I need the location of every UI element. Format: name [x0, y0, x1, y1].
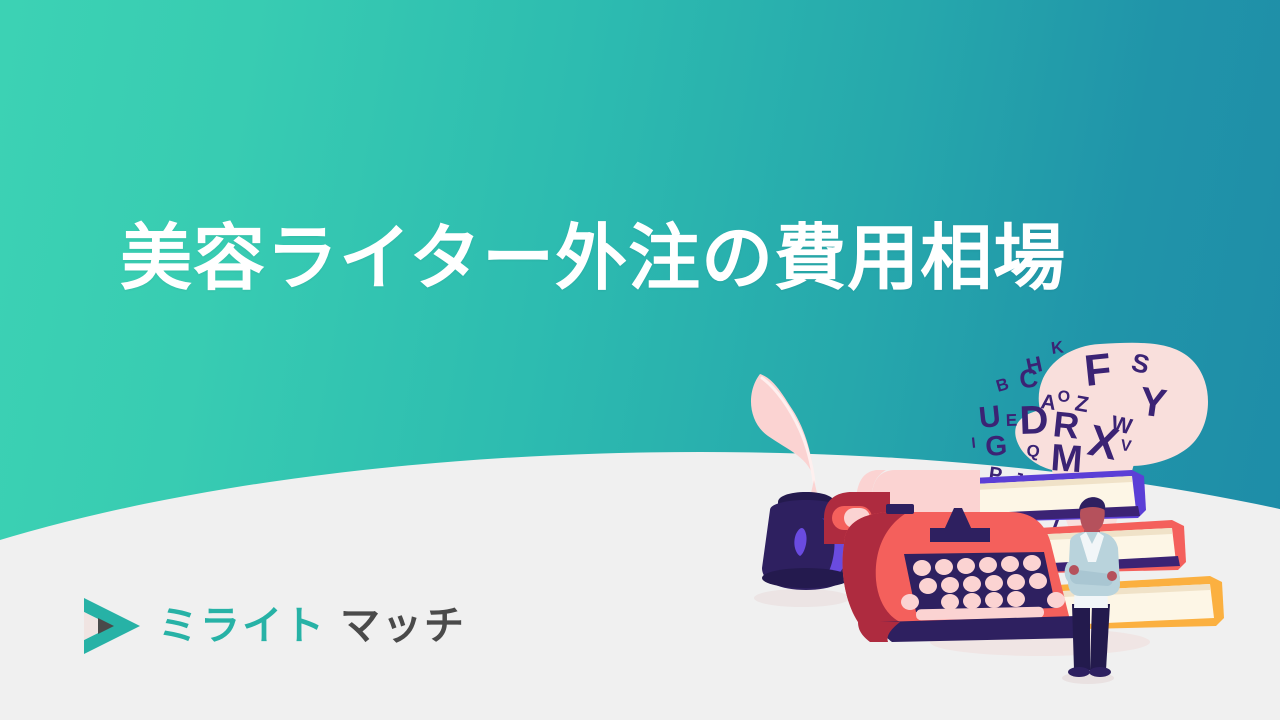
svg-text:B: B	[994, 374, 1011, 396]
typewriter-key-right	[1047, 592, 1065, 608]
svg-text:E: E	[1005, 411, 1017, 430]
typewriter-ribbon-slot	[886, 504, 914, 514]
person-leg-left	[1072, 604, 1090, 670]
svg-text:G: G	[984, 430, 1008, 462]
page-title: 美容ライター外注の費用相場	[120, 218, 1066, 301]
person-shoe-left	[1068, 667, 1090, 677]
svg-text:K: K	[1050, 337, 1066, 358]
svg-text:Q: Q	[1026, 441, 1041, 461]
person-leg-right	[1090, 604, 1110, 670]
svg-text:D: D	[1019, 398, 1049, 443]
person-hand-right	[1107, 571, 1117, 581]
person-hand-left	[1069, 565, 1079, 575]
ink-bottle-bottom	[762, 568, 850, 588]
svg-text:I: I	[971, 435, 977, 452]
typewriter-key-left	[901, 594, 919, 610]
writer-typewriter-books-illustration: K H F S B C A O Z Y U E D R X W V	[740, 330, 1240, 690]
svg-text:F: F	[1082, 344, 1114, 396]
quill-feather-icon	[751, 374, 820, 506]
brand-logo[interactable]: ミライト マッチ	[80, 596, 466, 656]
chevron-arrow-mark-icon	[80, 596, 144, 656]
logo-word-match: マッチ	[340, 606, 466, 646]
title-card-canvas: 美容ライター外注の費用相場 K H F S B C A O Z Y U	[0, 0, 1280, 720]
person-shoe-right	[1089, 667, 1111, 677]
ink-floor-shadow	[754, 589, 850, 607]
typewriter-typebar-base	[930, 528, 990, 542]
quill-plume	[751, 374, 814, 480]
logo-word-mirai: ミライト	[158, 606, 326, 646]
svg-text:C: C	[1018, 363, 1039, 394]
